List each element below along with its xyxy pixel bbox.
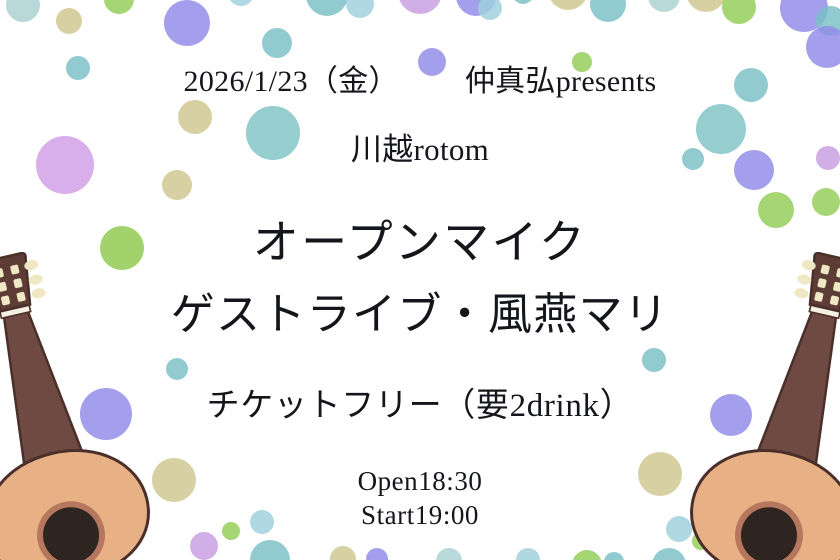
guest-live: ゲストライブ・風燕マリ bbox=[0, 278, 840, 342]
open-time: Open18:30 bbox=[0, 466, 840, 497]
poster-canvas: 2026/1/23（金） 仲真弘presents 川越rotom オープンマイク… bbox=[0, 0, 840, 560]
event-title: オープンマイク bbox=[0, 206, 840, 272]
poster-text-layer: 2026/1/23（金） 仲真弘presents 川越rotom オープンマイク… bbox=[0, 0, 840, 560]
start-time: Start19:00 bbox=[0, 500, 840, 531]
ticket-info: チケットフリー（要2drink） bbox=[0, 378, 840, 426]
venue-name: 川越rotom bbox=[0, 124, 840, 169]
date-presenter-row: 2026/1/23（金） 仲真弘presents bbox=[0, 56, 840, 100]
event-date: 2026/1/23（金） bbox=[184, 56, 399, 100]
presenter-name: 仲真弘presents bbox=[465, 56, 657, 100]
